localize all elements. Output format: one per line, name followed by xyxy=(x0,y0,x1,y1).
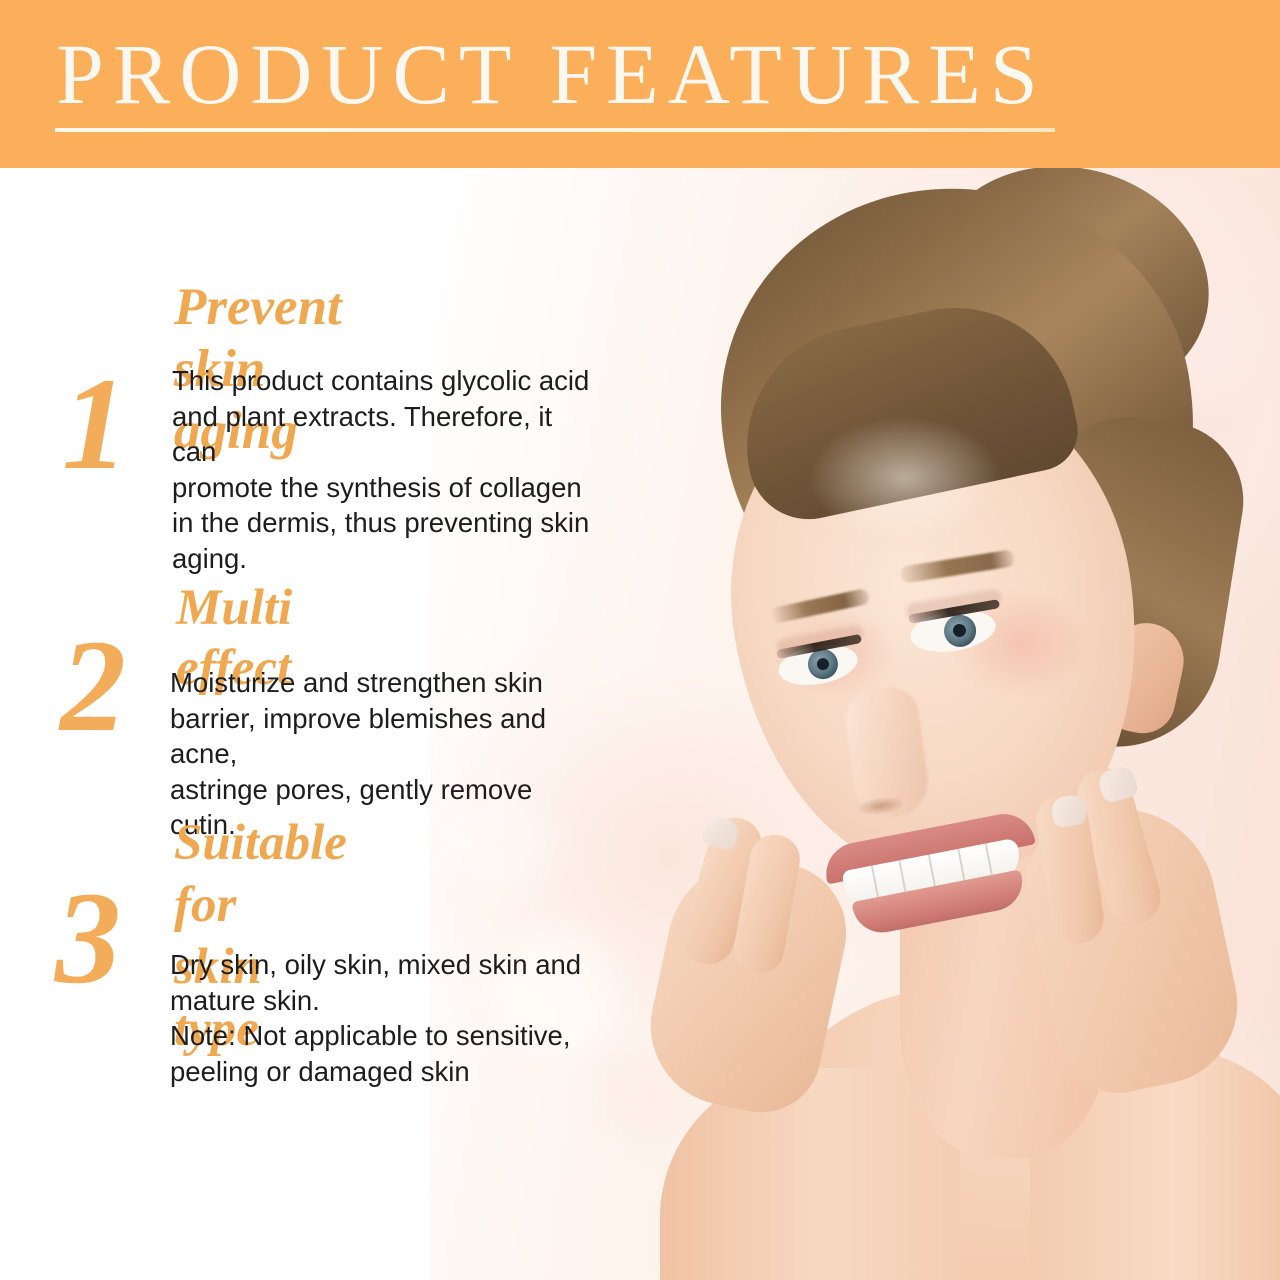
forehead-highlight xyxy=(810,418,1000,538)
feature-body-1: This product contains glycolic acid and … xyxy=(172,363,602,576)
title-underline xyxy=(55,128,1055,132)
page-title: PRODUCT FEATURES xyxy=(56,26,1047,122)
feature-number-3: 3 xyxy=(55,872,121,1004)
feature-body-3: Dry skin, oily skin, mixed skin and matu… xyxy=(170,947,600,1089)
product-features-page: PRODUCT FEATURES xyxy=(0,0,1280,1280)
model-photo xyxy=(600,168,1280,1280)
header-banner: PRODUCT FEATURES xyxy=(0,0,1280,168)
feature-number-2: 2 xyxy=(60,620,126,752)
feature-number-1: 1 xyxy=(62,358,128,490)
